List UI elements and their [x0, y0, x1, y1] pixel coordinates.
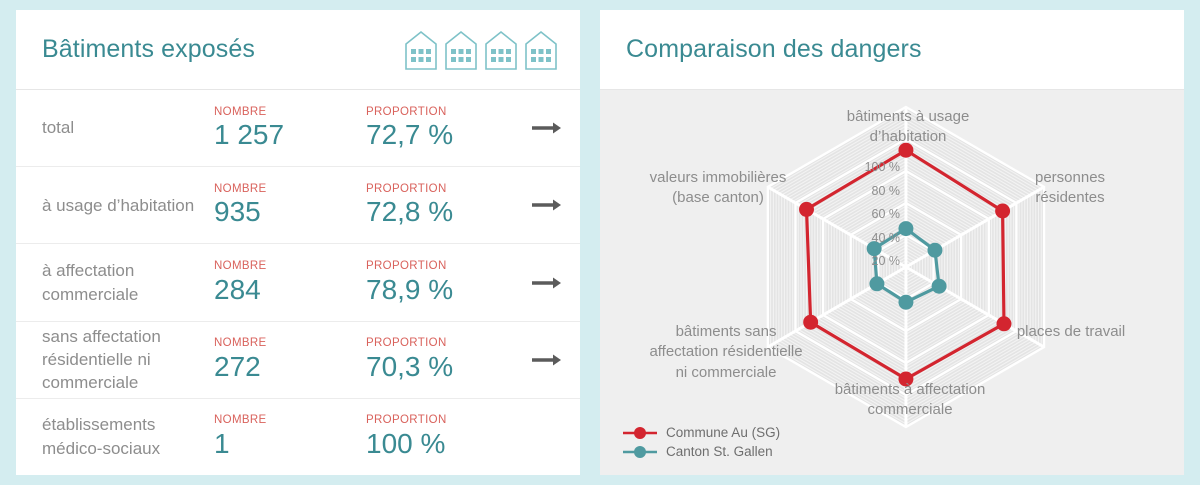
metric-key-nombre: NOMBRE [214, 337, 366, 350]
metric-value-nombre: 272 [214, 351, 366, 382]
metric-value-nombre: 1 [214, 428, 366, 459]
table-row[interactable]: établissements médico-sociaux NOMBRE 1 P… [16, 399, 580, 475]
danger-comparison-panel: Comparaison des dangers bâtiments à usag… [600, 10, 1184, 475]
radar-tick-40: 40 % [835, 231, 900, 245]
metric-proportion: PROPORTION 100 % [366, 414, 532, 459]
radar-axis-label-habitation: bâtiments à usage d’habitation [818, 107, 998, 148]
house-icon [404, 30, 438, 70]
metric-proportion: PROPORTION 72,8 % [366, 183, 532, 228]
row-label: sans affectation résidentielle ni commer… [42, 325, 214, 395]
dashboard: Bâtiments exposés [0, 0, 1200, 485]
house-icon [484, 30, 518, 70]
legend-item-commune[interactable]: Commune Au (SG) [622, 423, 780, 442]
table-row[interactable]: à usage d’habitation NOMBRE 935 PROPORTI… [16, 167, 580, 244]
row-label: à usage d’habitation [42, 194, 214, 217]
house-icon-strip [404, 30, 558, 70]
radar-axis-label-sans-affectation: bâtiments sans affectation résidentielle… [618, 322, 834, 383]
metric-key-nombre: NOMBRE [214, 183, 366, 196]
radar-tick-60: 60 % [835, 207, 900, 221]
metric-count: NOMBRE 1 257 [214, 106, 366, 151]
row-detail-link[interactable] [532, 121, 562, 135]
metric-key-nombre: NOMBRE [214, 414, 366, 427]
metric-value-nombre: 284 [214, 274, 366, 305]
danger-panel-title: Comparaison des dangers [626, 35, 922, 64]
row-detail-link[interactable] [532, 198, 562, 212]
metric-proportion: PROPORTION 78,9 % [366, 260, 532, 305]
table-row[interactable]: sans affectation résidentielle ni commer… [16, 322, 580, 399]
legend-swatch-canton [622, 445, 658, 459]
radar-axis-label-places: places de travail [996, 322, 1146, 342]
house-icon [444, 30, 478, 70]
metric-key-proportion: PROPORTION [366, 414, 532, 427]
radar-chart: bâtiments à usage d’habitation personnes… [600, 90, 1184, 475]
metric-value-nombre: 935 [214, 196, 366, 227]
legend-swatch-commune [622, 426, 658, 440]
metric-value-proportion: 70,3 % [366, 351, 532, 382]
row-detail-link[interactable] [532, 353, 562, 367]
buildings-table: total NOMBRE 1 257 PROPORTION 72,7 % [16, 90, 580, 475]
radar-axis-label-commerciale: bâtiments à affectation commerciale [800, 380, 1020, 421]
legend-item-canton[interactable]: Canton St. Gallen [622, 442, 780, 461]
metric-key-proportion: PROPORTION [366, 183, 532, 196]
metric-value-proportion: 78,9 % [366, 274, 532, 305]
buildings-panel: Bâtiments exposés [16, 10, 580, 475]
legend-label-commune: Commune Au (SG) [666, 425, 780, 440]
metric-value-proportion: 100 % [366, 428, 532, 459]
table-row[interactable]: total NOMBRE 1 257 PROPORTION 72,7 % [16, 90, 580, 167]
metric-count: NOMBRE 272 [214, 337, 366, 382]
radar-tick-100: 100 % [835, 160, 900, 174]
row-label: établissements médico-sociaux [42, 413, 214, 460]
metric-value-nombre: 1 257 [214, 119, 366, 150]
metric-key-nombre: NOMBRE [214, 260, 366, 273]
metric-key-proportion: PROPORTION [366, 337, 532, 350]
table-row[interactable]: à affectation commerciale NOMBRE 284 PRO… [16, 244, 580, 321]
metric-count: NOMBRE 1 [214, 414, 366, 459]
metric-value-proportion: 72,8 % [366, 196, 532, 227]
danger-panel-header: Comparaison des dangers [600, 10, 1184, 90]
radar-axis-label-personnes: personnes résidentes [1000, 168, 1140, 209]
legend-label-canton: Canton St. Gallen [666, 444, 773, 459]
buildings-panel-header: Bâtiments exposés [16, 10, 580, 90]
radar-tick-80: 80 % [835, 184, 900, 198]
page-title: Bâtiments exposés [42, 35, 255, 64]
metric-key-proportion: PROPORTION [366, 260, 532, 273]
row-label: total [42, 116, 214, 139]
metric-key-proportion: PROPORTION [366, 106, 532, 119]
metric-key-nombre: NOMBRE [214, 106, 366, 119]
row-detail-link[interactable] [532, 276, 562, 290]
radar-axis-label-valeurs: valeurs immobilières (base canton) [618, 168, 818, 209]
row-label: à affectation commerciale [42, 259, 214, 306]
metric-proportion: PROPORTION 70,3 % [366, 337, 532, 382]
metric-count: NOMBRE 284 [214, 260, 366, 305]
metric-proportion: PROPORTION 72,7 % [366, 106, 532, 151]
chart-legend: Commune Au (SG) Canton St. Gallen [622, 423, 780, 461]
house-icon [524, 30, 558, 70]
metric-value-proportion: 72,7 % [366, 119, 532, 150]
metric-count: NOMBRE 935 [214, 183, 366, 228]
radar-tick-20: 20 % [835, 254, 900, 268]
